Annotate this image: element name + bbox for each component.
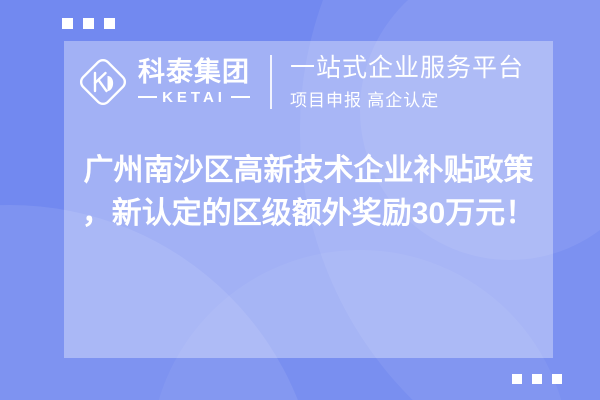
square-dot-icon [83,18,94,29]
headline-line-2: ，新认定的区级额外奖励30万元！ [64,193,553,236]
square-dot-icon [552,374,562,384]
logo-wordmark: 科泰集团 KETAI [138,58,250,105]
slogan-block: 一站式企业服务平台 项目申报 高企认定 [290,54,524,111]
company-logo: 科泰集团 KETAI [76,55,250,109]
square-dot-icon [62,18,73,29]
square-dot-icon [104,18,115,29]
decorative-dots-top-left [62,18,115,29]
decorative-dots-bottom-right [512,374,562,384]
logo-company-name-en-row: KETAI [138,89,250,106]
logo-rule-right [231,96,250,98]
square-dot-icon [532,374,542,384]
slogan-sub-text: 项目申报 高企认定 [290,86,524,111]
slogan-main-text: 一站式企业服务平台 [290,54,524,82]
page-title: 广州南沙区高新技术企业补贴政策 ，新认定的区级额外奖励30万元！ [64,150,553,235]
ketai-diamond-kd-mark-icon [76,55,130,109]
logo-rule-left [138,96,157,98]
logo-company-name-en: KETAI [162,89,226,106]
header-vertical-divider [270,55,272,109]
banner-header: 科泰集团 KETAI 一站式企业服务平台 项目申报 高企认定 [64,41,553,123]
square-dot-icon [512,374,522,384]
banner-image: 科泰集团 KETAI 一站式企业服务平台 项目申报 高企认定 广州南沙区高新技术… [0,0,600,400]
headline-line-1: 广州南沙区高新技术企业补贴政策 [64,150,553,193]
logo-company-name-cn: 科泰集团 [138,58,250,86]
